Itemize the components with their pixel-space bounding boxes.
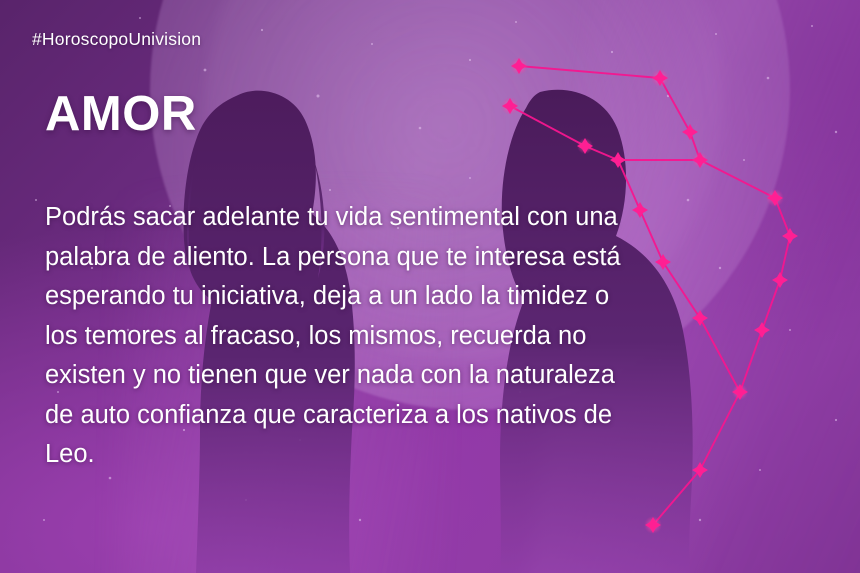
hashtag-label: #HoroscopoUnivision [32, 29, 201, 50]
horoscope-body-text: Podrás sacar adelante tu vida sentimenta… [45, 198, 815, 475]
horoscope-card: #HoroscopoUnivision AMOR Podrás sacar ad… [0, 0, 860, 573]
page-title: AMOR [45, 90, 197, 139]
